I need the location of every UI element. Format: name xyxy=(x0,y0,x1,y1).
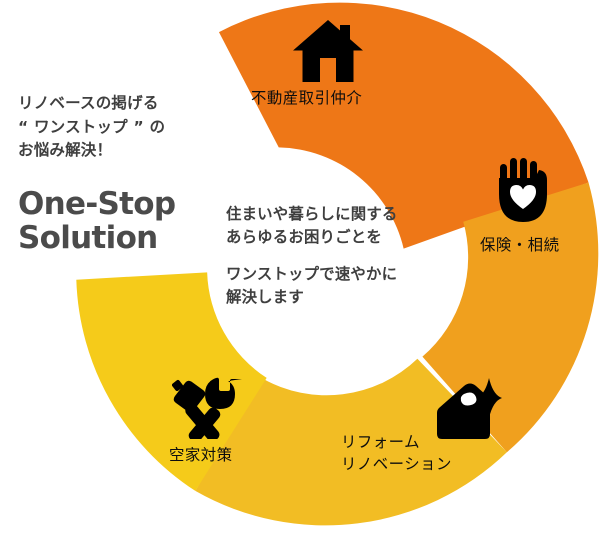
segment-label-realestate: 不動産取引仲介 xyxy=(251,87,362,109)
left-text-block: リノベースの掲げる “ ワンストップ ” の お悩み解決！ One-Stop S… xyxy=(18,92,233,256)
center-paragraph-2: ワンストップで速やかに 解決します xyxy=(226,263,441,309)
center-text-block: 住まいや暮らしに関する あらゆるお困りごとを ワンストップで速やかに 解決します xyxy=(226,203,441,309)
house-icon xyxy=(293,20,363,82)
segment-label-insurance: 保険・相続 xyxy=(480,234,559,256)
one-stop-solution-infographic: リノベースの掲げる “ ワンストップ ” の お悩み解決！ One-Stop S… xyxy=(0,0,600,533)
tagline-text: リノベースの掲げる “ ワンストップ ” の お悩み解決！ xyxy=(18,92,233,163)
center-paragraph-1: 住まいや暮らしに関する あらゆるお困りごとを xyxy=(226,203,441,249)
segment-label-vacant: 空家対策 xyxy=(169,444,233,466)
page-title: One-Stop Solution xyxy=(18,187,233,256)
hand-heart-icon xyxy=(495,158,551,222)
hammer-wrench-icon xyxy=(172,375,248,439)
segment-label-reform: リフォーム リノベーション xyxy=(341,431,452,476)
